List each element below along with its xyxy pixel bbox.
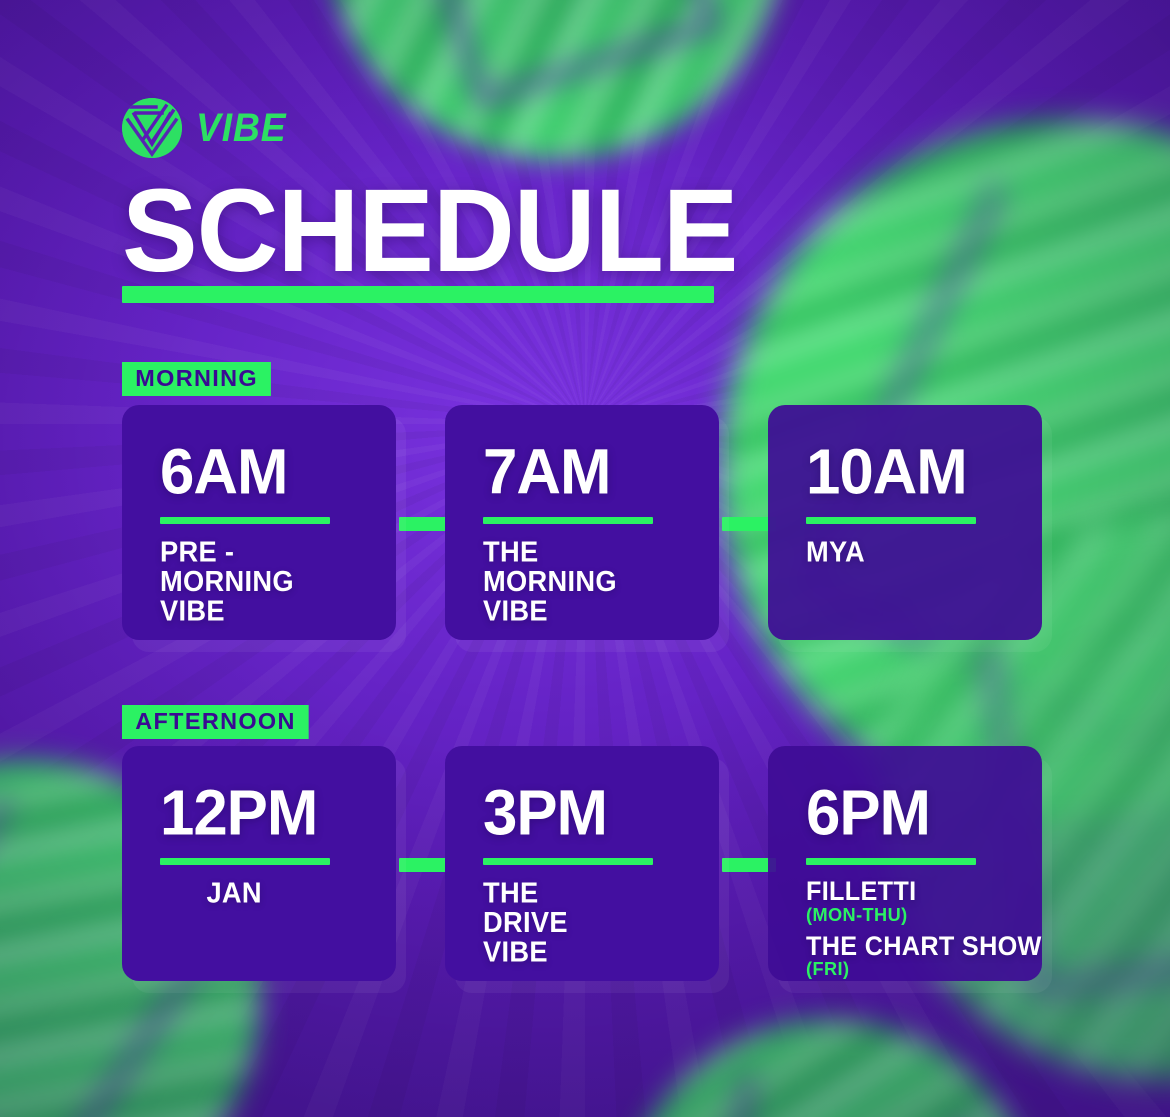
card-show-name: JAN	[160, 879, 396, 908]
card-time: 6PM	[806, 782, 1042, 843]
brand-name: VIBE	[196, 108, 287, 148]
card-divider	[806, 858, 976, 865]
card-divider	[483, 858, 653, 865]
vibe-circle-v-logo-icon	[122, 98, 182, 158]
card-time: 3PM	[483, 782, 719, 843]
schedule-slot[interactable]: 6PM FILLETTI (MON-THU) THE CHART SHOW (F…	[768, 746, 1057, 987]
card-show-name: THE MORNING VIBE	[483, 538, 719, 626]
schedule-row-morning: 6AM PRE - MORNING VIBE 7AM THE MORNING V…	[122, 405, 1057, 646]
schedule-card[interactable]: 10AM MYA	[768, 405, 1042, 640]
card-time: 6AM	[160, 441, 396, 502]
schedule-slot[interactable]: 12PM JAN	[122, 746, 411, 987]
card-time: 10AM	[806, 441, 1042, 502]
card-entry: JAN	[160, 879, 396, 907]
card-divider	[160, 517, 330, 524]
schedule-poster: VIBE SCHEDULE MORNING 6AM PRE - MORNING …	[0, 0, 1170, 1117]
schedule-card[interactable]: 7AM THE MORNING VIBE	[445, 405, 719, 640]
schedule-slot[interactable]: 3PM THE DRIVE VIBE	[445, 746, 734, 987]
schedule-slot[interactable]: 10AM MYA	[768, 405, 1057, 646]
schedule-card[interactable]: 12PM JAN	[122, 746, 396, 981]
card-entry: FILLETTI (MON-THU)	[806, 879, 1042, 925]
card-show-name: FILLETTI	[806, 879, 1042, 906]
card-show-name: PRE - MORNING VIBE	[160, 538, 396, 626]
card-divider	[160, 858, 330, 865]
card-entry: MYA	[806, 538, 1042, 566]
title-underline	[122, 286, 714, 303]
card-entry: PRE - MORNING VIBE	[160, 538, 396, 621]
card-show-days: (MON-THU)	[806, 906, 1042, 925]
card-entry: THE MORNING VIBE	[483, 538, 719, 621]
card-entry: THE DRIVE VIBE	[483, 879, 719, 962]
card-time: 7AM	[483, 441, 719, 502]
schedule-row-afternoon: 12PM JAN 3PM THE DRIVE VIBE	[122, 746, 1057, 987]
schedule-card[interactable]: 6AM PRE - MORNING VIBE	[122, 405, 396, 640]
card-show-name: THE DRIVE VIBE	[483, 879, 719, 967]
schedule-card[interactable]: 6PM FILLETTI (MON-THU) THE CHART SHOW (F…	[768, 746, 1042, 981]
card-divider	[806, 517, 976, 524]
schedule-card[interactable]: 3PM THE DRIVE VIBE	[445, 746, 719, 981]
schedule-slot[interactable]: 6AM PRE - MORNING VIBE	[122, 405, 411, 646]
page-title: SCHEDULE	[122, 172, 737, 290]
schedule-slot[interactable]: 7AM THE MORNING VIBE	[445, 405, 734, 646]
card-show-name: THE CHART SHOW	[806, 934, 1042, 961]
section-tag-afternoon: AFTERNOON	[122, 705, 309, 739]
card-time: 12PM	[160, 782, 396, 843]
card-show-days: (FRI)	[806, 960, 1042, 979]
card-show-name: MYA	[806, 538, 1042, 567]
brand-lockup: VIBE	[122, 98, 293, 158]
section-tag-morning: MORNING	[122, 362, 271, 396]
card-entry: THE CHART SHOW (FRI)	[806, 934, 1042, 980]
card-divider	[483, 517, 653, 524]
